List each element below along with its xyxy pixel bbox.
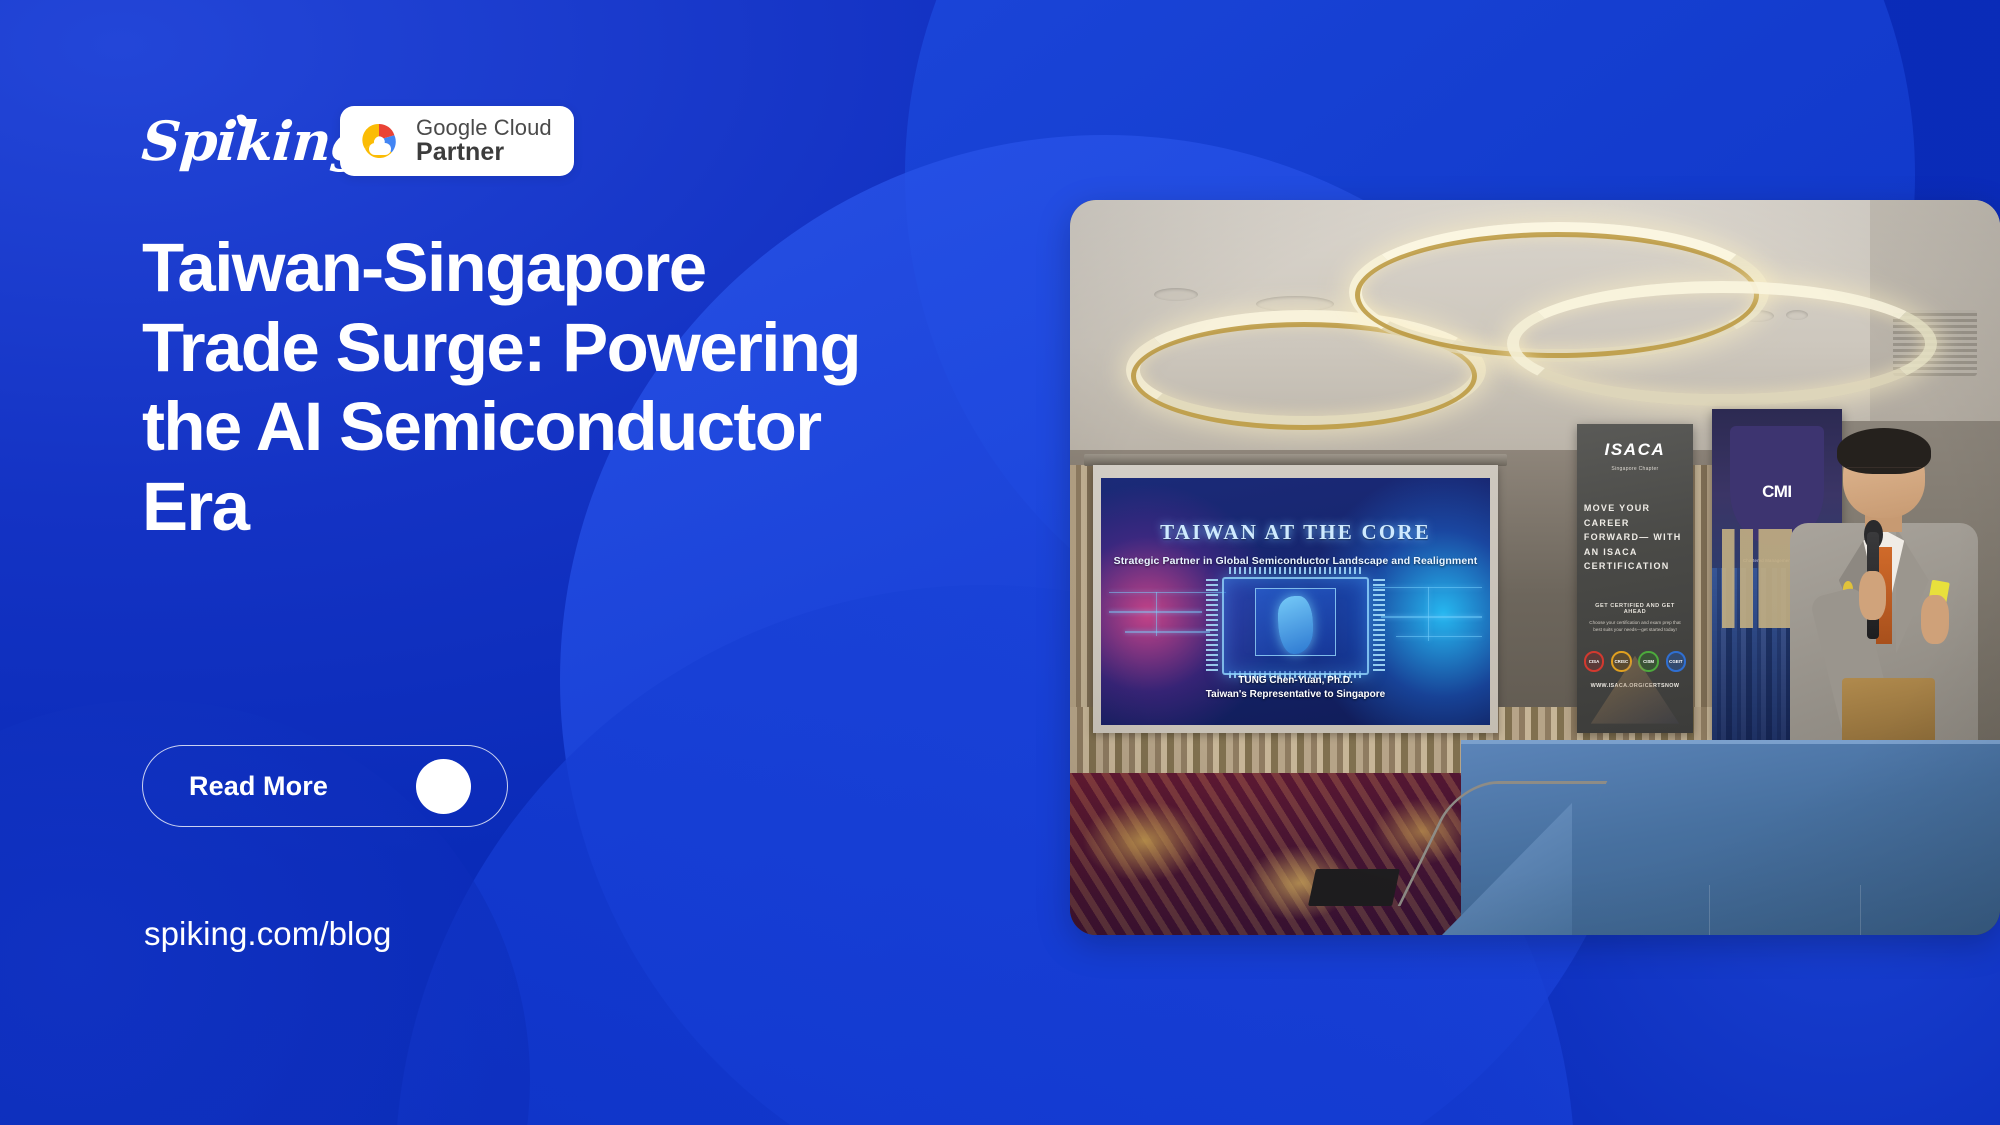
presenter-title: Taiwan's Representative to Singapore xyxy=(1101,688,1489,703)
circle-dot-icon xyxy=(416,759,471,814)
slide-subtitle: Strategic Partner in Global Semiconducto… xyxy=(1109,555,1482,567)
photo-content: TAIWAN AT THE CORE Strategic Partner in … xyxy=(1070,200,2000,935)
spiking-wordmark: Spiking xyxy=(140,114,369,168)
spiking-logo[interactable]: Spiking xyxy=(142,108,317,174)
slide-presenter: TUNG Chen-Yuan, Ph.D. Taiwan's Represent… xyxy=(1101,674,1489,703)
slide-title: TAIWAN AT THE CORE xyxy=(1101,520,1489,545)
cert-badge: CGEIT xyxy=(1666,651,1686,671)
isaca-cta-text: GET CERTIFIED AND GET AHEAD xyxy=(1584,603,1686,615)
google-cloud-partner-badge[interactable]: Google Cloud Partner xyxy=(340,106,574,176)
google-cloud-partner-text: Google Cloud Partner xyxy=(416,116,552,166)
conference-presentation-photo: TAIWAN AT THE CORE Strategic Partner in … xyxy=(1070,200,2000,935)
presenter-name: TUNG Chen-Yuan, Ph.D. xyxy=(1101,674,1489,689)
presentation-slide: TAIWAN AT THE CORE Strategic Partner in … xyxy=(1101,478,1489,725)
speaker-hand xyxy=(1859,571,1886,620)
projector-screen: TAIWAN AT THE CORE Strategic Partner in … xyxy=(1093,465,1498,733)
read-more-label: Read More xyxy=(189,771,328,802)
google-cloud-icon xyxy=(356,121,402,161)
floor-monitor-speaker xyxy=(1308,869,1399,906)
isaca-banner: ISACA Singapore Chapter MOVE YOUR CAREER… xyxy=(1577,424,1693,733)
glasses-icon xyxy=(1847,467,1921,482)
chandelier-ring xyxy=(1507,281,1937,406)
patterned-carpet xyxy=(1070,773,1479,935)
isaca-logo: ISACA xyxy=(1577,440,1693,460)
content-column: Spiking Google Cloud Partner xyxy=(142,0,902,1125)
ceiling-vent xyxy=(1256,296,1334,312)
isaca-chapter-label: Singapore Chapter xyxy=(1577,466,1693,472)
taiwan-island-icon xyxy=(1278,596,1312,655)
speaker-hand xyxy=(1921,595,1950,644)
read-more-button[interactable]: Read More xyxy=(142,745,508,827)
cert-badge: CISA xyxy=(1584,651,1604,671)
brand-row: Spiking Google Cloud Partner xyxy=(142,106,574,176)
isaca-headline: MOVE YOUR CAREER FORWARD— WITH AN ISACA … xyxy=(1584,501,1686,573)
isaca-body-text: Choose your certification and exam prep … xyxy=(1585,620,1685,634)
chip-graphic xyxy=(1222,577,1370,676)
site-url[interactable]: spiking.com/blog xyxy=(144,915,391,953)
badge-line-google-cloud: Google Cloud xyxy=(416,116,552,139)
promo-card: Spiking Google Cloud Partner xyxy=(0,0,2000,1125)
badge-line-partner: Partner xyxy=(416,139,552,166)
page-title: Taiwan-Singapore Trade Surge: Powering t… xyxy=(142,228,862,547)
